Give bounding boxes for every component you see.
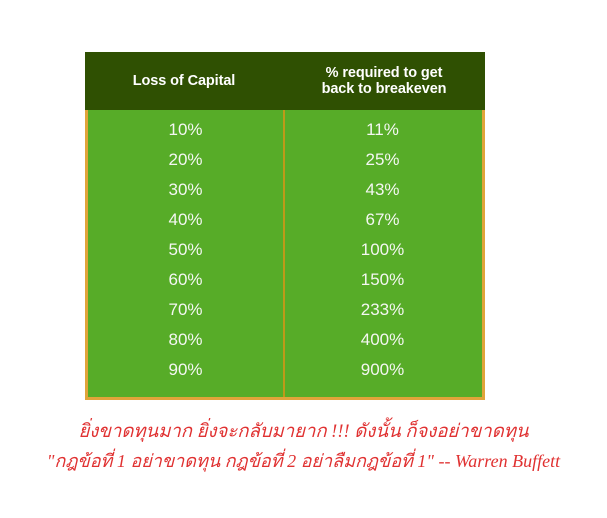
cell-required: 400% xyxy=(283,330,482,350)
loss-recovery-table: Loss of Capital % required to get back t… xyxy=(85,52,485,400)
table-row: 60% 150% xyxy=(88,265,482,295)
table-body: 10% 11% 20% 25% 30% 43% 40% 67% 50% 100%… xyxy=(85,110,485,400)
cell-required: 11% xyxy=(283,120,482,140)
caption-line-1: ยิ่งขาดทุนมาก ยิ่งจะกลับมายาก !!! ดังนั้… xyxy=(0,418,607,447)
cell-required: 43% xyxy=(283,180,482,200)
cell-loss: 10% xyxy=(88,120,283,140)
cell-required: 25% xyxy=(283,150,482,170)
page-root: Loss of Capital % required to get back t… xyxy=(0,0,607,518)
cell-required: 100% xyxy=(283,240,482,260)
table-row: 30% 43% xyxy=(88,175,482,205)
cell-required: 67% xyxy=(283,210,482,230)
cell-loss: 50% xyxy=(88,240,283,260)
caption-block: ยิ่งขาดทุนมาก ยิ่งจะกลับมายาก !!! ดังนั้… xyxy=(0,418,607,476)
table-row: 20% 25% xyxy=(88,145,482,175)
cell-loss: 30% xyxy=(88,180,283,200)
cell-required: 900% xyxy=(283,360,482,380)
column-header-required-line2: back to breakeven xyxy=(289,81,479,97)
column-header-required-line1: % required to get xyxy=(289,65,479,81)
table-row: 40% 67% xyxy=(88,205,482,235)
table-row: 80% 400% xyxy=(88,325,482,355)
caption-line-2: "กฎข้อที่ 1 อย่าขาดทุน กฎข้อที่ 2 อย่าลื… xyxy=(0,447,607,476)
cell-required: 233% xyxy=(283,300,482,320)
column-divider xyxy=(283,110,285,397)
cell-loss: 90% xyxy=(88,360,283,380)
cell-loss: 60% xyxy=(88,270,283,290)
table-row: 50% 100% xyxy=(88,235,482,265)
cell-loss: 20% xyxy=(88,150,283,170)
column-header-loss-of-capital: Loss of Capital xyxy=(85,73,283,89)
cell-loss: 70% xyxy=(88,300,283,320)
table-row: 10% 11% xyxy=(88,115,482,145)
table-row: 70% 233% xyxy=(88,295,482,325)
table-row: 90% 900% xyxy=(88,355,482,385)
cell-loss: 80% xyxy=(88,330,283,350)
table-header-row: Loss of Capital % required to get back t… xyxy=(85,52,485,110)
cell-loss: 40% xyxy=(88,210,283,230)
cell-required: 150% xyxy=(283,270,482,290)
column-header-required-to-breakeven: % required to get back to breakeven xyxy=(283,65,485,97)
